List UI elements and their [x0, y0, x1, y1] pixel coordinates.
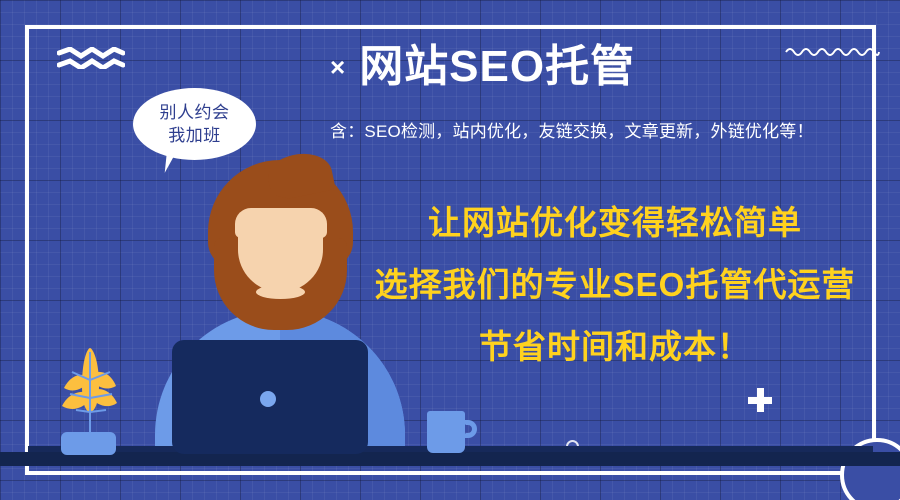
page-subtitle: 含：SEO检测，站内优化，友链交换，文章更新，外链优化等！	[330, 117, 890, 142]
coffee-mug-icon	[427, 411, 465, 453]
wave-left-icon	[57, 47, 125, 69]
mouth	[256, 285, 305, 299]
plant-pot	[61, 432, 116, 455]
forehead	[235, 208, 327, 238]
headline-list: 让网站优化变得轻松简单 选择我们的专业SEO托管代运营 节省时间和成本！	[330, 192, 900, 378]
plus-mark-icon	[748, 388, 772, 412]
speech-bubble: 别人约会 我加班	[133, 88, 256, 160]
speech-bubble-line-1: 别人约会	[160, 101, 230, 124]
potted-plant-icon	[58, 346, 122, 438]
seo-hosting-banner: 别人约会 我加班 ×	[0, 0, 900, 500]
laptop-logo-dot	[260, 391, 276, 407]
speech-bubble-line-2: 我加班	[168, 124, 221, 147]
headline-line-3: 节省时间和成本！	[330, 316, 900, 378]
headline-line-1: 让网站优化变得轻松简单	[330, 192, 900, 254]
headline-line-2: 选择我们的专业SEO托管代运营	[330, 254, 900, 316]
page-title: 网站SEO托管	[359, 44, 635, 90]
title-row: × 网站SEO托管	[330, 44, 890, 90]
desk-surface	[0, 452, 900, 466]
title-bullet-icon: ×	[330, 54, 345, 80]
